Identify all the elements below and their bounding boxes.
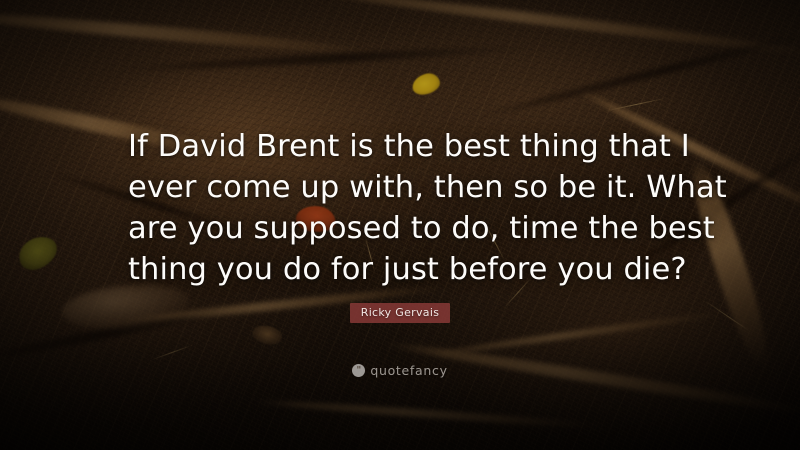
- quotefancy-logo-glyph: ": [356, 367, 361, 376]
- watermark-label: quotefancy: [370, 364, 447, 377]
- quote-line: are you supposed to do, time the best: [128, 208, 672, 249]
- quote-poster: If David Brent is the best thing that I …: [0, 0, 800, 450]
- quote-line: If David Brent is the best thing that I: [128, 126, 672, 167]
- author-attribution: Ricky Gervais: [0, 301, 800, 323]
- quote-line: ever come up with, then so be it. What: [128, 167, 672, 208]
- author-name-badge: Ricky Gervais: [350, 303, 450, 323]
- quotefancy-logo-icon: ": [352, 364, 365, 377]
- quote-line: thing you do for just before you die?: [128, 249, 672, 290]
- quote-text-block: If David Brent is the best thing that I …: [0, 126, 800, 290]
- poster-content: If David Brent is the best thing that I …: [0, 0, 800, 450]
- watermark: " quotefancy: [0, 364, 800, 377]
